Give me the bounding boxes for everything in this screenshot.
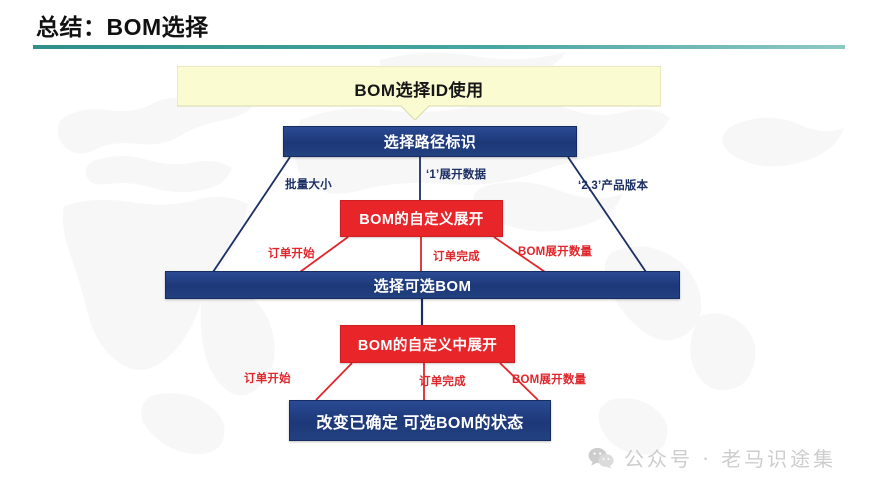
edge-label-bom-expand-qty-upper: BOM展开数量 [518, 243, 592, 259]
banner-label: BOM选择ID使用 [177, 72, 661, 104]
edge-label-bom-expand-qty-lower: BOM展开数量 [512, 371, 586, 387]
edge-label-product-version: ‘2,3’产品版本 [578, 177, 648, 193]
edge-label-batch-size: 批量大小 [285, 176, 332, 192]
node-bom-custom-mid-expand[interactable]: BOM的自定义中展开 [340, 325, 515, 363]
node-select-path-id[interactable]: 选择路径标识 [283, 126, 577, 157]
wechat-icon [588, 447, 614, 469]
node-label: 选择路径标识 [384, 131, 476, 152]
edge-label-expand-data: ‘1’展开数据 [426, 166, 486, 182]
node-bom-custom-expand[interactable]: BOM的自定义展开 [340, 200, 503, 237]
node-label: BOM的自定义中展开 [358, 334, 497, 355]
node-label: BOM的自定义展开 [359, 208, 483, 229]
node-label: 改变已确定 可选BOM的状态 [316, 409, 523, 433]
slide-canvas: 总结：BOM选择 BOM选择ID使用 [0, 0, 872, 491]
edge-midexpand-to-left [316, 363, 352, 400]
node-select-alternative-bom[interactable]: 选择可选BOM [165, 271, 680, 299]
title-underline-rule [33, 45, 845, 49]
page-title: 总结：BOM选择 [36, 8, 209, 42]
watermark-text: 公众号 · 老马识途集 [624, 443, 836, 472]
edge-label-order-start-lower: 订单开始 [244, 370, 291, 386]
edge-label-order-start-upper: 订单开始 [268, 245, 315, 261]
edge-label-order-done-lower: 订单完成 [419, 373, 466, 389]
edge-label-order-done-upper: 订单完成 [433, 248, 480, 264]
banner-bom-selection-id: BOM选择ID使用 [177, 66, 661, 120]
node-label: 选择可选BOM [374, 275, 472, 296]
wechat-watermark: 公众号 · 老马识途集 [588, 443, 836, 472]
node-change-confirmed-bom-state[interactable]: 改变已确定 可选BOM的状态 [289, 400, 551, 441]
